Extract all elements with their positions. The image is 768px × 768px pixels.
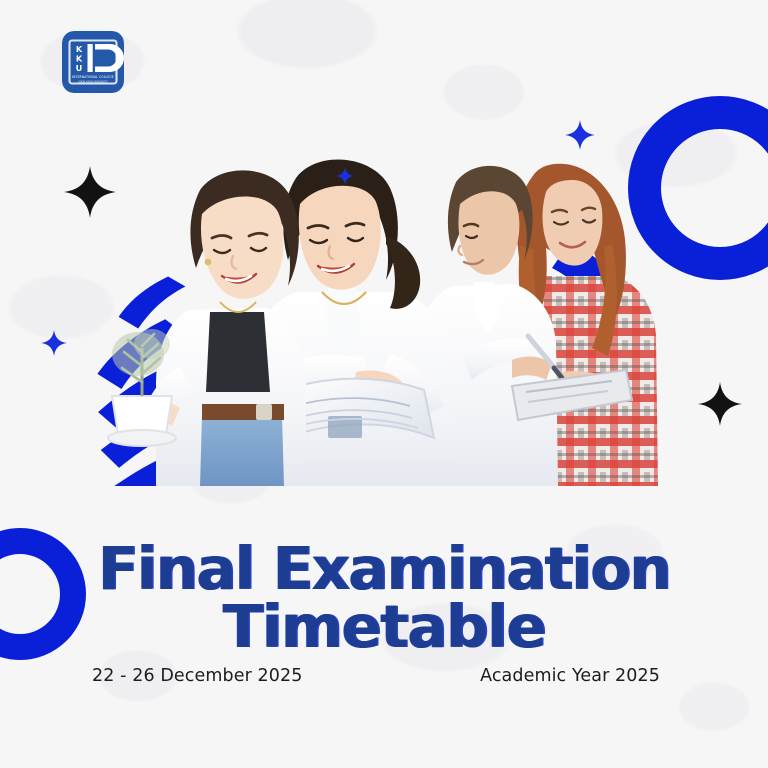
academic-year: Academic Year 2025: [480, 666, 660, 686]
svg-text:K: K: [76, 54, 83, 64]
student-left: [108, 170, 306, 486]
sparkle-black-right-icon: [698, 382, 742, 426]
exam-date-range: 22 - 26 December 2025: [92, 666, 303, 686]
exam-timetable-poster: K K U INTERNATIONAL COLLEGE KHON KAEN UN…: [0, 0, 768, 768]
page-title: Final Examination Timetable: [0, 540, 768, 657]
sparkle-black-left-icon: [64, 166, 116, 218]
svg-text:U: U: [76, 63, 83, 73]
sparkle-blue-top-icon: [565, 120, 595, 150]
kku-ic-logo[interactable]: K K U INTERNATIONAL COLLEGE KHON KAEN UN…: [62, 31, 124, 93]
sparkle-blue-mid-icon: [336, 167, 354, 185]
logo-line2: KHON KAEN UNIVERSITY: [78, 81, 108, 84]
page-title-line-1: Final Examination: [0, 540, 768, 598]
poster-footer: 22 - 26 December 2025 Academic Year 2025: [92, 666, 676, 686]
students-photo: [60, 86, 708, 486]
hero-photo-collage: [60, 86, 708, 486]
svg-text:K: K: [76, 44, 83, 54]
page-title-line-2: Timetable: [0, 598, 768, 656]
hero-photo-clip: [60, 86, 708, 486]
sparkle-blue-left-icon: [41, 330, 67, 356]
logo-line1: INTERNATIONAL COLLEGE: [72, 75, 114, 79]
